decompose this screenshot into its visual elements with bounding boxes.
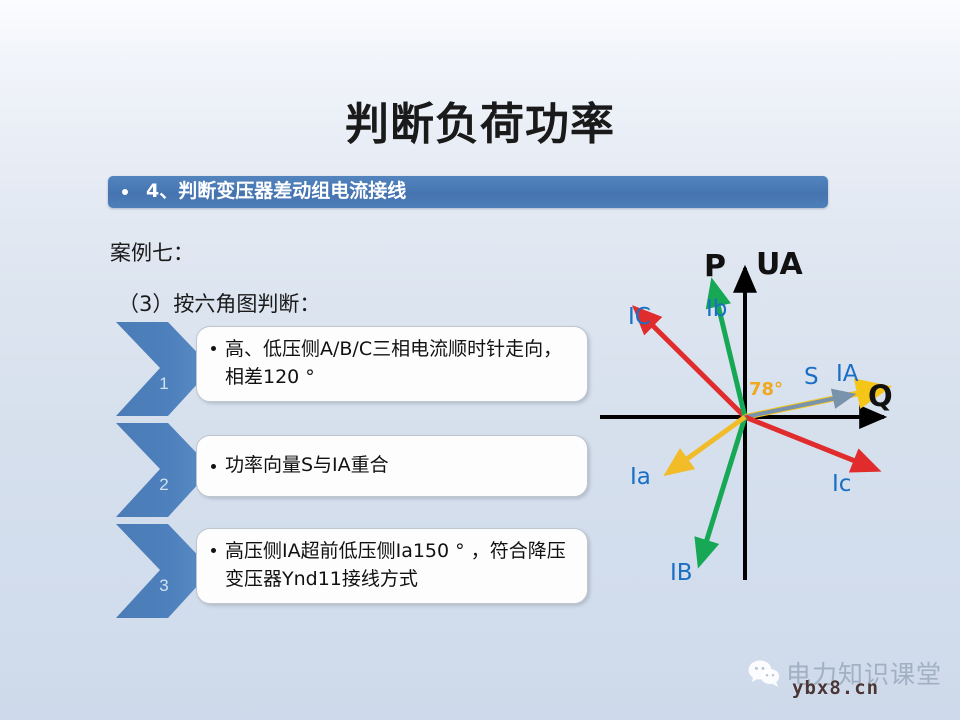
vector-Ic: [745, 417, 875, 469]
step-bullet-icon: [211, 464, 216, 469]
step-list: 1 高、低压侧A/B/C三相电流顺时针走向，相差120 °: [116, 322, 596, 642]
step-text-box: 功率向量S与IA重合: [196, 435, 588, 497]
vector-label-S: S: [804, 364, 819, 390]
axis-label-p: P: [704, 249, 726, 284]
phasor-diagram: P UA Q 78° IC Ib S IA Ic Ia IB: [596, 236, 936, 586]
list-item: 3 高压侧IA超前低压侧Ia150 ° ，符合降压变压器Ynd11接线方式: [116, 524, 596, 624]
step-bullet-icon: [211, 548, 216, 553]
list-item: 2 功率向量S与IA重合: [116, 423, 596, 523]
vector-label-Ia: Ia: [630, 464, 651, 490]
step-text: 高压侧IA超前低压侧Ia150 ° ，符合降压变压器Ynd11接线方式: [225, 538, 577, 593]
page-title: 判断负荷功率: [0, 88, 960, 152]
section-banner: 4、判断变压器差动组电流接线: [108, 176, 828, 208]
step-text-box: 高压侧IA超前低压侧Ia150 ° ，符合降压变压器Ynd11接线方式: [196, 528, 588, 604]
vector-label-IB: IB: [670, 560, 693, 586]
vector-IC: [637, 310, 745, 417]
vector-label-Ib: Ib: [706, 296, 727, 322]
list-item: 1 高、低压侧A/B/C三相电流顺时针走向，相差120 °: [116, 322, 596, 422]
axis-label-ua: UA: [756, 247, 803, 282]
vector-IB: [700, 417, 745, 562]
step-text-box: 高、低压侧A/B/C三相电流顺时针走向，相差120 °: [196, 326, 588, 402]
footer-watermark: 电力知识课堂 ybx8.cn: [748, 655, 958, 711]
vector-Ia: [669, 417, 745, 472]
wechat-icon: [748, 659, 780, 689]
banner-label: 4、判断变压器差动组电流接线: [146, 182, 406, 203]
slide-canvas: 判断负荷功率 4、判断变压器差动组电流接线 案例七： （3）按六角图判断：: [0, 0, 960, 720]
footer-url: ybx8.cn: [792, 677, 879, 699]
banner-bullet-icon: [122, 189, 128, 195]
step-bullet-icon: [211, 346, 216, 351]
step-text: 高、低压侧A/B/C三相电流顺时针走向，相差120 °: [225, 336, 577, 391]
step-text: 功率向量S与IA重合: [225, 452, 389, 480]
vector-label-Ic: Ic: [832, 471, 851, 497]
step-heading: （3）按六角图判断：: [118, 288, 320, 318]
case-heading: 案例七：: [110, 237, 194, 267]
vector-label-IA: IA: [836, 361, 859, 387]
axis-label-q: Q: [868, 379, 893, 413]
vector-label-IC: IC: [628, 304, 651, 330]
angle-label-78: 78°: [749, 379, 783, 400]
